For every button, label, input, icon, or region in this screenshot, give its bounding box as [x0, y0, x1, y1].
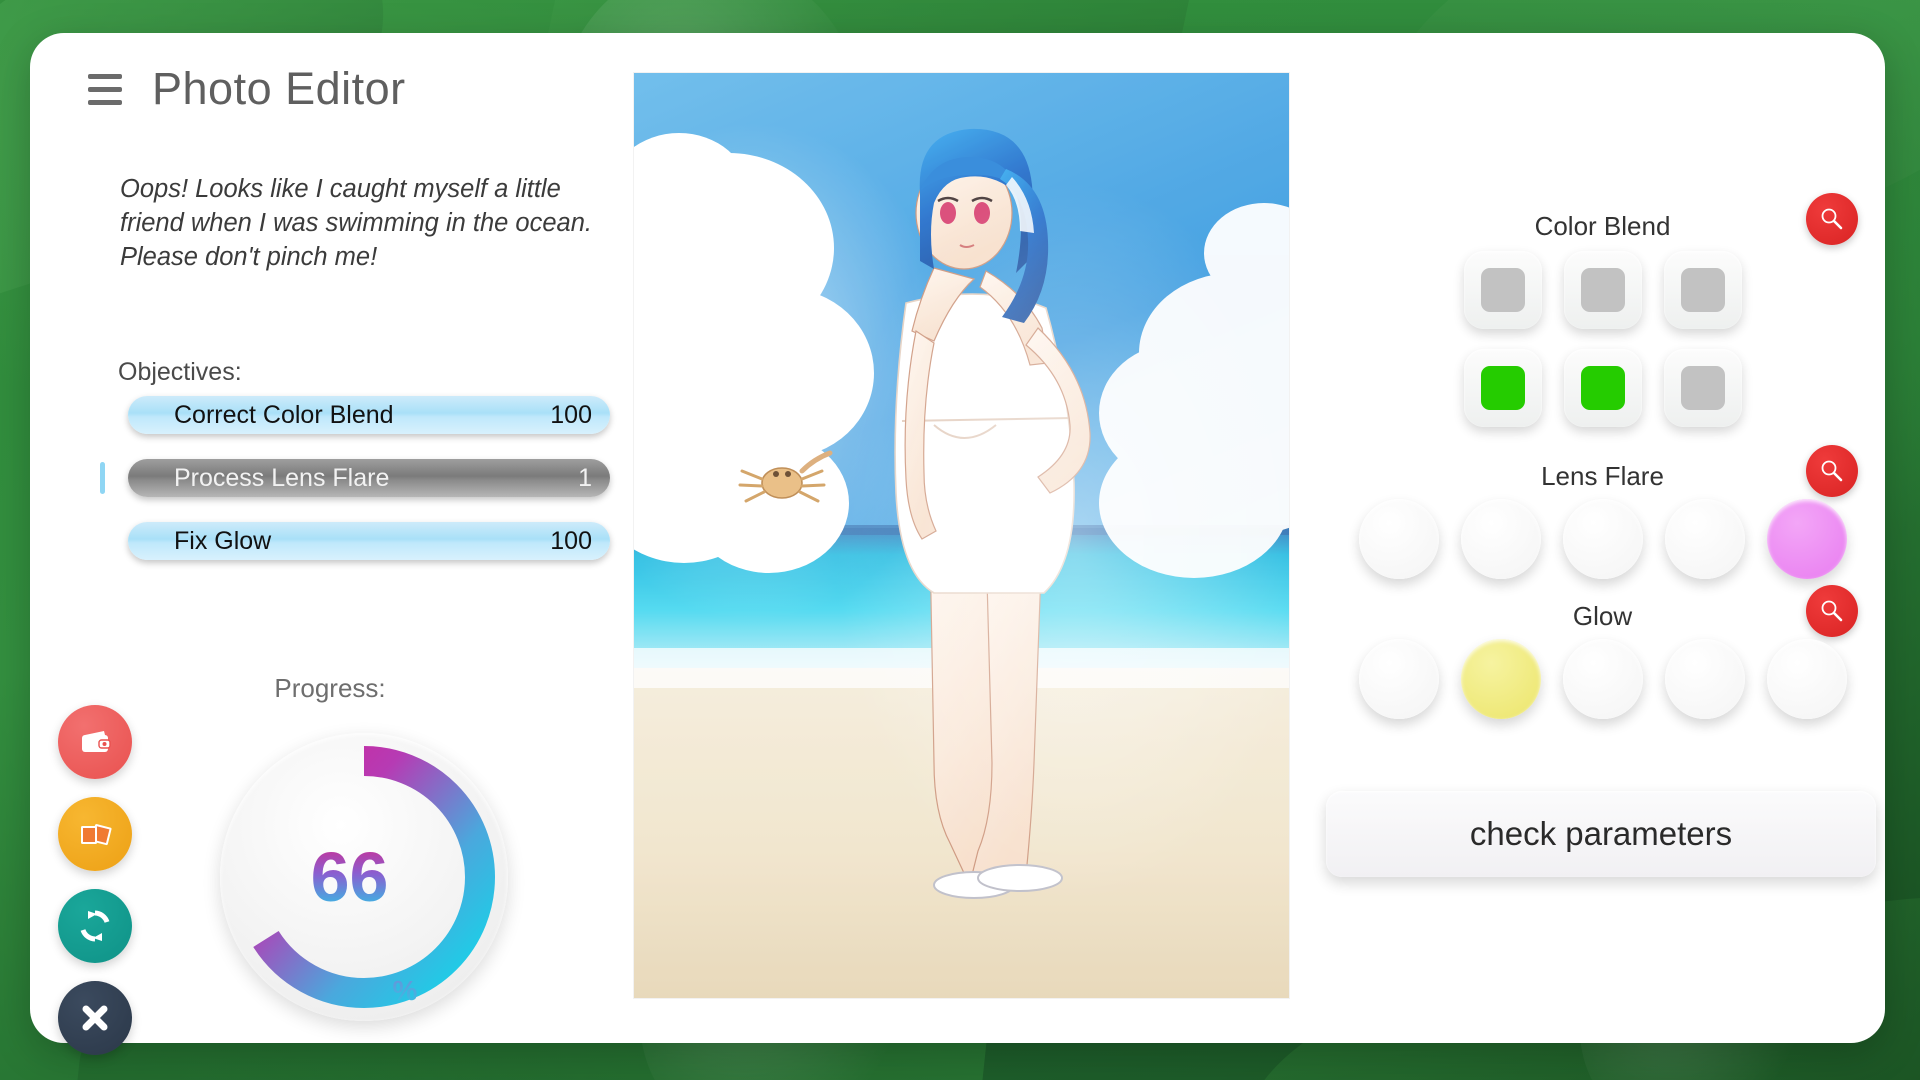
glow-swatch-row	[1320, 639, 1885, 719]
color-blend-swatch[interactable]	[1464, 251, 1542, 329]
glow-title: Glow	[1320, 601, 1885, 632]
objective-value: 100	[550, 527, 592, 556]
color-blend-swatch-grid	[1320, 251, 1885, 427]
page-title: Photo Editor	[152, 63, 406, 115]
objectives-list: Correct Color Blend 100 Process Lens Fla…	[128, 396, 610, 585]
lens-flare-swatch[interactable]	[1461, 499, 1541, 579]
close-button[interactable]	[58, 981, 132, 1055]
glow-swatch[interactable]	[1563, 639, 1643, 719]
progress-ring-widget: 66 %	[220, 733, 508, 1021]
swatch-color	[1581, 366, 1625, 410]
swatch-color	[1481, 366, 1525, 410]
check-parameters-button[interactable]: check parameters	[1326, 791, 1876, 877]
progress-percent-sign: %	[392, 975, 417, 1007]
color-blend-swatch[interactable]	[1664, 251, 1742, 329]
swatch-color	[1481, 268, 1525, 312]
lens-flare-swatch[interactable]	[1563, 499, 1643, 579]
lens-flare-magnifier-button[interactable]	[1806, 445, 1858, 497]
wallet-button[interactable]	[58, 705, 132, 779]
main-card: Photo Editor Oops! Looks like I caught m…	[30, 33, 1885, 1043]
objectives-label: Objectives:	[118, 358, 242, 387]
objective-row[interactable]: Fix Glow 100	[128, 522, 610, 560]
lens-flare-swatch-row	[1320, 499, 1885, 579]
magnifier-icon	[1819, 206, 1845, 232]
lens-flare-swatch[interactable]	[1665, 499, 1745, 579]
objective-value: 1	[578, 464, 592, 493]
sidebar-button-group	[58, 705, 132, 1073]
flavor-text: Oops! Looks like I caught myself a littl…	[120, 173, 600, 275]
title-bar: Photo Editor	[88, 63, 406, 115]
progress-value-group: 66 %	[220, 733, 508, 1021]
photo-canvas[interactable]	[634, 73, 1289, 998]
objective-active-marker	[100, 462, 105, 494]
color-blend-swatch[interactable]	[1464, 349, 1542, 427]
magnifier-icon	[1819, 598, 1845, 624]
progress-label: Progress:	[30, 673, 630, 704]
progress-percent-value: 66	[311, 842, 389, 912]
color-blend-magnifier-button[interactable]	[1806, 193, 1858, 245]
objective-name: Correct Color Blend	[174, 401, 550, 430]
swatch-color	[1681, 268, 1725, 312]
glow-swatch[interactable]	[1767, 639, 1847, 719]
glow-swatch[interactable]	[1461, 639, 1541, 719]
objective-value: 100	[550, 401, 592, 430]
wallet-icon	[75, 722, 115, 762]
refresh-button[interactable]	[58, 889, 132, 963]
objective-name: Fix Glow	[174, 527, 550, 556]
lens-flare-swatch[interactable]	[1359, 499, 1439, 579]
lens-flare-swatch[interactable]	[1767, 499, 1847, 579]
right-panel: Color Blend	[1320, 33, 1885, 1043]
refresh-icon	[74, 905, 116, 947]
swatch-color	[1581, 268, 1625, 312]
lens-flare-title: Lens Flare	[1320, 461, 1885, 492]
glow-magnifier-button[interactable]	[1806, 585, 1858, 637]
hamburger-menu-icon[interactable]	[88, 74, 122, 105]
objective-row[interactable]: Correct Color Blend 100	[128, 396, 610, 434]
photos-icon	[75, 814, 115, 854]
glow-swatch[interactable]	[1359, 639, 1439, 719]
magnifier-icon	[1819, 458, 1845, 484]
color-blend-swatch[interactable]	[1564, 349, 1642, 427]
color-blend-swatch[interactable]	[1564, 251, 1642, 329]
color-blend-title: Color Blend	[1320, 211, 1885, 242]
glow-swatch[interactable]	[1665, 639, 1745, 719]
objective-name: Process Lens Flare	[174, 464, 578, 493]
beach-illustration	[634, 73, 1289, 998]
color-blend-swatch[interactable]	[1664, 349, 1742, 427]
left-panel: Photo Editor Oops! Looks like I caught m…	[30, 33, 630, 1043]
objective-row[interactable]: Process Lens Flare 1	[128, 459, 610, 497]
swatch-color	[1681, 366, 1725, 410]
close-icon	[78, 1001, 112, 1035]
photos-button[interactable]	[58, 797, 132, 871]
